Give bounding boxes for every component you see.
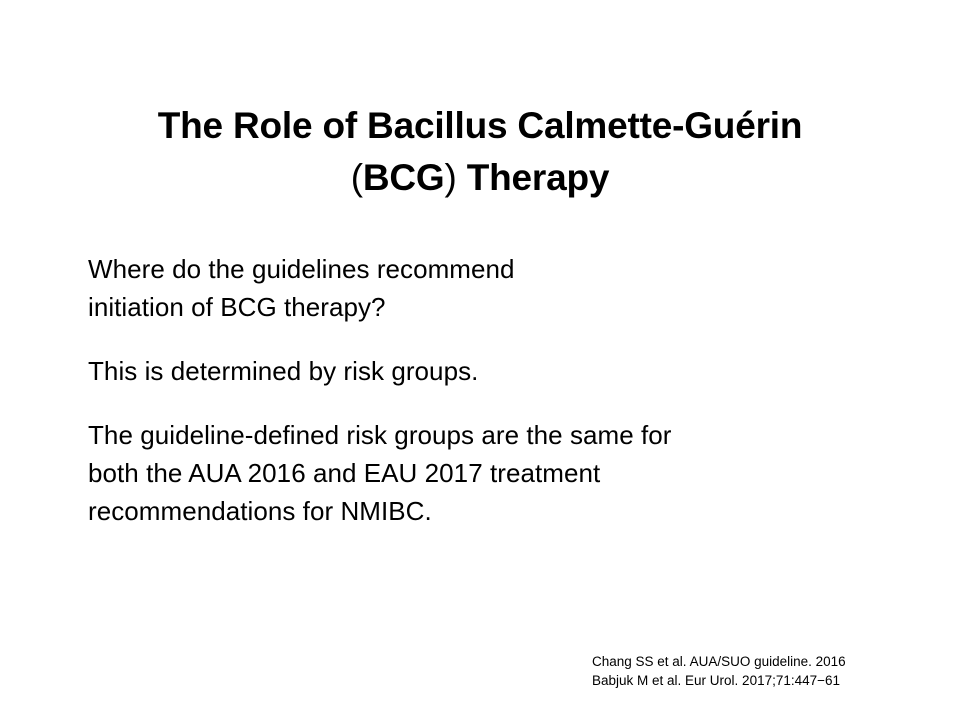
body-paragraph-3-line-1: The guideline-defined risk groups are th… bbox=[88, 416, 878, 454]
title-close-paren: ) bbox=[445, 157, 457, 198]
body-paragraph-1-line-2: initiation of BCG therapy? bbox=[88, 288, 878, 326]
body-paragraph-1-line-1: Where do the guidelines recommend bbox=[88, 250, 878, 288]
body-paragraph-3-line-2: both the AUA 2016 and EAU 2017 treatment bbox=[88, 454, 878, 492]
citation-block: Chang SS et al. AUA/SUO guideline. 2016 … bbox=[592, 652, 952, 690]
title-line-2-tail: Therapy bbox=[457, 157, 610, 198]
body-paragraph-3: The guideline-defined risk groups are th… bbox=[88, 416, 878, 530]
slide-title: The Role of Bacillus Calmette-Guérin (BC… bbox=[0, 100, 960, 204]
title-open-paren: ( bbox=[351, 157, 363, 198]
title-acronym: BCG bbox=[363, 157, 445, 198]
body-paragraph-3-line-3: recommendations for NMIBC. bbox=[88, 492, 878, 530]
body-paragraph-1: Where do the guidelines recommend initia… bbox=[88, 250, 878, 326]
presentation-slide: The Role of Bacillus Calmette-Guérin (BC… bbox=[0, 0, 960, 720]
slide-body: Where do the guidelines recommend initia… bbox=[88, 250, 878, 530]
title-line-2: (BCG) Therapy bbox=[0, 152, 960, 204]
title-line-1: The Role of Bacillus Calmette-Guérin bbox=[0, 100, 960, 152]
citation-line-1: Chang SS et al. AUA/SUO guideline. 2016 bbox=[592, 652, 952, 671]
citation-line-2: Babjuk M et al. Eur Urol. 2017;71:447−61 bbox=[592, 671, 952, 690]
body-paragraph-2: This is determined by risk groups. bbox=[88, 352, 878, 390]
body-paragraph-2-line-1: This is determined by risk groups. bbox=[88, 352, 878, 390]
